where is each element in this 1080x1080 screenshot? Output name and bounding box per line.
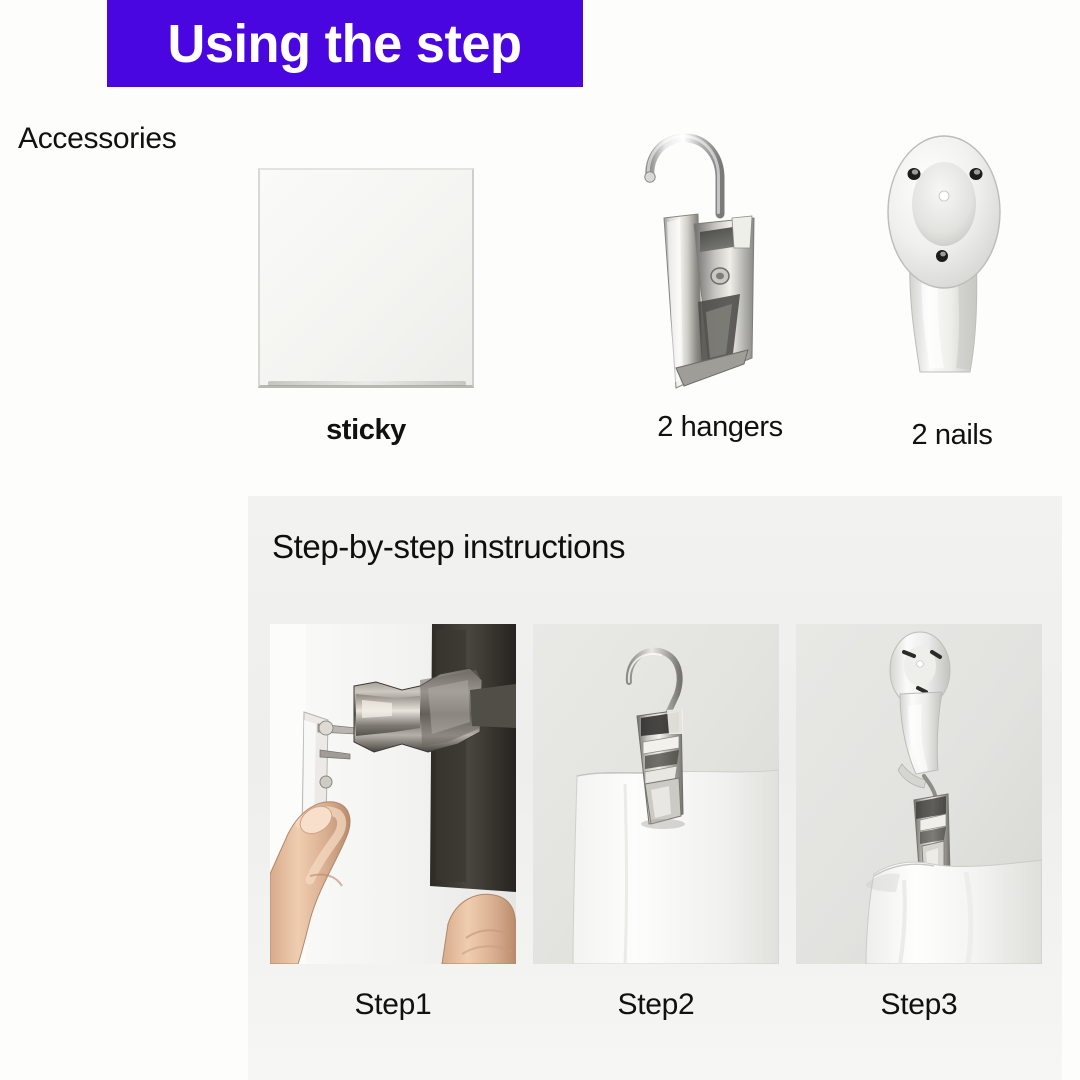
step-image-2 <box>533 624 779 964</box>
accessory-caption-nails: 2 nails <box>872 419 1032 452</box>
step-caption-3: Step3 <box>796 988 1042 1022</box>
accessories-section-label: Accessories <box>18 122 176 156</box>
title-banner: Using the step <box>107 0 583 87</box>
metal-hook-clip-icon <box>636 106 806 396</box>
adhesive-square-icon <box>258 168 474 388</box>
step-tiles <box>270 624 1042 964</box>
step-image-1 <box>270 624 516 964</box>
accessory-caption-hangers: 2 hangers <box>620 411 820 444</box>
step-caption-1: Step1 <box>270 988 516 1022</box>
steps-panel: Step-by-step instructions <box>248 496 1062 1080</box>
white-wall-hook-icon <box>872 134 1032 396</box>
step-caption-2: Step2 <box>533 988 779 1022</box>
instruction-graphic: Using the step Accessories <box>0 0 1080 1080</box>
accessory-caption-sticky: sticky <box>258 414 474 447</box>
steps-heading: Step-by-step instructions <box>272 528 625 566</box>
page-title: Using the step <box>168 17 522 71</box>
step-image-3 <box>796 624 1042 964</box>
